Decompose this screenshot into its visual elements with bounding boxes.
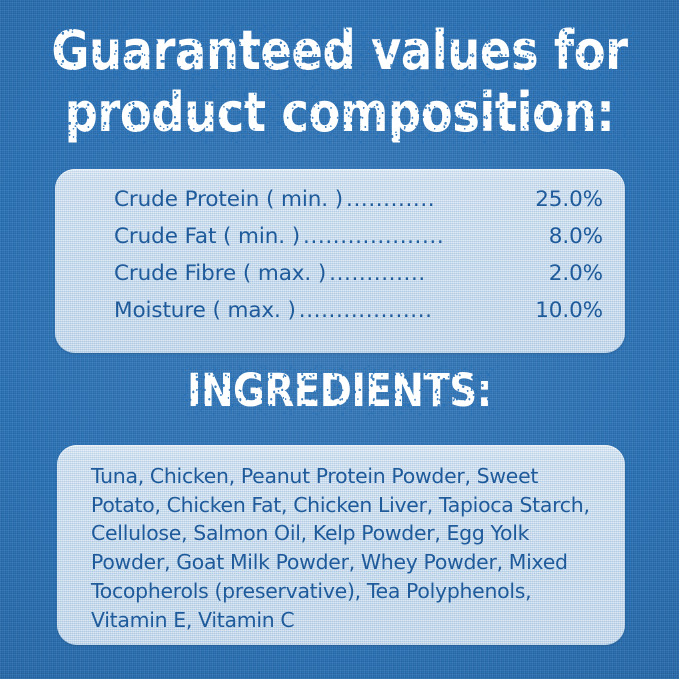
analysis-row: Moisture ( max. ) .................. 10.… (114, 300, 603, 322)
ingredients-panel: Tuna, Chicken, Peanut Protein Powder, Sw… (57, 445, 625, 645)
guaranteed-analysis-list: Crude Protein ( min. ) ............ 25.0… (55, 169, 625, 322)
guaranteed-analysis-heading-line-2: product composition: (65, 86, 615, 140)
analysis-row: Crude Fibre ( max. ) ............. 2.0% (114, 263, 603, 285)
nutrient-value: 10.0% (535, 300, 603, 322)
ingredients-heading: INGREDIENTS: (48, 368, 632, 413)
dot-leader: .................. (296, 300, 436, 322)
guaranteed-analysis-panel: Crude Protein ( min. ) ............ 25.0… (55, 169, 625, 353)
guaranteed-analysis-heading-line-1: Guaranteed values for (51, 24, 627, 78)
dot-leader: ............. (326, 263, 429, 285)
nutrient-value: 25.0% (535, 189, 603, 211)
nutrient-label: Crude Fibre ( max. ) (114, 263, 326, 285)
nutrient-label: Moisture ( max. ) (114, 300, 296, 322)
ingredients-text: Tuna, Chicken, Peanut Protein Powder, Sw… (57, 445, 625, 634)
nutrient-label: Crude Protein ( min. ) (114, 189, 343, 211)
dot-leader: ............ (343, 189, 438, 211)
guaranteed-analysis-heading: Guaranteed values for product compositio… (48, 24, 632, 140)
nutrient-value: 2.0% (549, 263, 603, 285)
analysis-row: Crude Fat ( min. ) ................... 8… (114, 226, 603, 248)
dot-leader: ................... (300, 226, 447, 248)
pet-food-label-panel: Guaranteed values for product compositio… (0, 0, 679, 679)
nutrient-label: Crude Fat ( min. ) (114, 226, 300, 248)
nutrient-value: 8.0% (549, 226, 603, 248)
ingredients-heading-text: INGREDIENTS: (187, 368, 492, 413)
analysis-row: Crude Protein ( min. ) ............ 25.0… (114, 189, 603, 211)
